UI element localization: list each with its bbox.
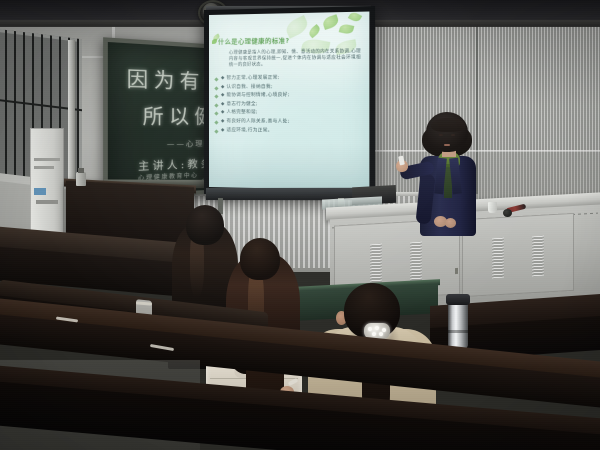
cabinet-badge xyxy=(34,188,46,195)
clip-gem xyxy=(375,326,379,330)
presenter-hand-lowered-2 xyxy=(445,218,456,228)
presenter-eye-right xyxy=(451,134,455,136)
clip-gem xyxy=(372,332,376,336)
cabinet-label xyxy=(36,200,58,204)
cabinet-vent-2 xyxy=(34,166,54,169)
slide-bullet-item: ◆ 认识自我、接纳自我; xyxy=(215,83,359,92)
presenter-mouth xyxy=(444,144,450,146)
slide-title: 什么是心理健康的标准? xyxy=(218,36,289,46)
leaf-icon xyxy=(339,23,355,35)
microphone-head xyxy=(503,209,512,217)
screen-shading xyxy=(209,142,369,190)
podium-handle[interactable] xyxy=(455,268,458,274)
presenter-fringe xyxy=(431,118,465,132)
projection-screen: 什么是心理健康的标准? 心理健康是指人的心理,即知、情、意活动的内在关系协调,心… xyxy=(209,11,369,190)
slide-paragraph: 心理健康是指人的心理,即知、情、意活动的内在关系协调,心理内容与客观世界保持统一… xyxy=(229,49,361,69)
clip-gem xyxy=(368,327,372,331)
leaf-icon xyxy=(321,14,340,30)
podium-vent-4 xyxy=(532,236,544,277)
bottle xyxy=(76,172,86,186)
presenter xyxy=(398,112,490,237)
clip-gem xyxy=(379,332,383,336)
podium-vent-2 xyxy=(410,242,422,283)
slide-bullet-item: ◆ 意志行为健全; xyxy=(215,101,359,110)
slide-title-bullet-icon xyxy=(212,38,217,43)
thermos-lid xyxy=(446,294,470,305)
classroom-photo: 因为有你 所以健康 ——心理健康讲座 主讲人:教务 心理健康教育中心 二〇一三 … xyxy=(0,0,600,450)
marker-pen-icon xyxy=(398,156,405,166)
thermos-band xyxy=(448,330,468,333)
podium-vent-1 xyxy=(370,244,382,285)
bottle-cap xyxy=(78,168,84,173)
leaf-icon xyxy=(307,24,322,38)
blackboard-presenter-label: 主讲人:教务 xyxy=(138,155,214,174)
slide-bullet-item: ◆ 适应环境,行为正常。 xyxy=(215,127,359,137)
podium-vent-3 xyxy=(492,238,504,279)
leaf-icon xyxy=(348,11,362,23)
student-b-head xyxy=(240,238,280,280)
presenter-eye-left xyxy=(439,134,443,136)
thermos xyxy=(448,302,468,348)
cabinet-vent xyxy=(34,158,60,161)
slide-bullet-list: ◆ 智力正常,心理发展正常; ◆ 认识自我、接纳自我; ◆ 能协调与控制情绪,心… xyxy=(215,74,359,136)
clip-gem xyxy=(382,328,386,332)
slide-bullet-item: ◆ 能协调与控制情绪,心境良好; xyxy=(215,92,359,101)
